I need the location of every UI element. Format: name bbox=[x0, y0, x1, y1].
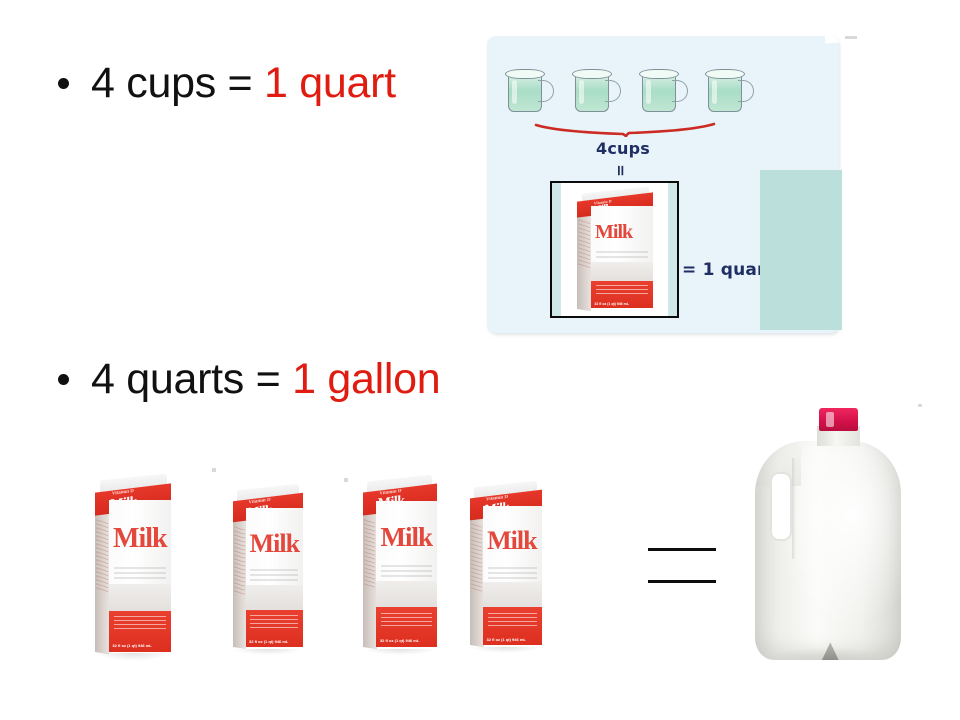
carton-bottom-red-band: 32 fl oz (1 qt) 946 mL bbox=[483, 607, 542, 645]
cup-gloss bbox=[579, 80, 584, 104]
carton-nutrition-lines bbox=[114, 616, 166, 632]
carton-bottom-red-band: 32 fl oz (1 qt) 946 mL bbox=[591, 281, 653, 309]
slide-canvas: 4 cups = 1 quart 4 quarts = 1 gallon bbox=[0, 0, 960, 720]
carton-front-face: Milk 32 fl oz (1 qt) 946 mL bbox=[246, 508, 303, 647]
carton-lower-white bbox=[376, 581, 437, 607]
carton-ground-shadow bbox=[233, 649, 303, 656]
carton-ground-shadow bbox=[470, 647, 542, 654]
milk-carton-1: Vitamin D Milk Milk 32 fl oz (1 qt) 946 … bbox=[95, 477, 171, 657]
stray-mark-carton-1 bbox=[212, 468, 216, 472]
quart-milk-carton: Vitamin D Milk Milk 32 fl oz (1 qt) 946 … bbox=[577, 190, 653, 312]
milk-carton-3: Vitamin D Milk Milk 32 fl oz (1 qt) 946 … bbox=[363, 478, 437, 652]
frame-strip-right bbox=[668, 183, 677, 316]
carton-ground-shadow bbox=[363, 649, 437, 656]
carton-front-face: Milk 32 fl oz (1 qt) 946 mL bbox=[109, 500, 171, 651]
carton-bottom-red-band: 32 fl oz (1 qt) 946 mL bbox=[246, 610, 303, 647]
carton-volume-text: 32 fl oz (1 qt) 946 mL bbox=[594, 302, 628, 306]
carton-nutrition-lines bbox=[250, 615, 298, 629]
carton-brand-text: Milk bbox=[250, 531, 299, 557]
measuring-cup-4 bbox=[705, 68, 747, 114]
carton-brand-text: Milk bbox=[487, 528, 536, 554]
panel-corner-notch bbox=[825, 36, 839, 44]
bullet-1-lead: 4 cups = bbox=[91, 59, 264, 107]
carton-side-panel bbox=[95, 499, 109, 654]
carton-volume-text: 32 fl oz (1 qt) 946 mL bbox=[486, 637, 525, 642]
cup-handle bbox=[738, 80, 754, 102]
carton-side-text bbox=[471, 523, 482, 591]
carton-lower-white bbox=[483, 582, 542, 607]
cup-rim bbox=[505, 69, 545, 79]
bullet-text-quarts-to-gallon: 4 quarts = 1 gallon bbox=[91, 358, 440, 401]
carton-front-face: Milk 32 fl oz (1 qt) 946 mL bbox=[376, 501, 437, 647]
bullet-1-accent: 1 quart bbox=[264, 59, 396, 107]
bullet-line-cups-to-quart: 4 cups = 1 quart bbox=[58, 62, 396, 105]
measuring-cup-2 bbox=[572, 68, 614, 114]
cup-rim bbox=[572, 69, 612, 79]
carton-side-panel bbox=[470, 504, 484, 647]
stray-mark-top-right bbox=[845, 36, 857, 39]
label-four-cups: 4cups bbox=[596, 139, 650, 158]
jug-cap-gloss bbox=[826, 412, 834, 427]
carton-lower-white bbox=[591, 262, 653, 280]
jug-handle-hole bbox=[772, 474, 790, 540]
equals-bar-top bbox=[648, 548, 716, 551]
carton-nutrition-lines bbox=[381, 613, 432, 628]
carton-volume-text: 32 fl oz (1 qt) 946 mL bbox=[112, 643, 151, 648]
bullet-dot-icon bbox=[58, 78, 69, 89]
jug-handle-rib bbox=[792, 458, 797, 559]
cup-rim bbox=[705, 69, 745, 79]
carton-side-panel bbox=[577, 205, 591, 311]
stray-mark-right bbox=[918, 404, 922, 407]
teal-overlay-block bbox=[760, 170, 842, 330]
carton-side-text bbox=[234, 526, 245, 594]
cup-gloss bbox=[512, 80, 517, 104]
jug-cap bbox=[819, 408, 859, 431]
carton-subtext-lines bbox=[114, 567, 166, 581]
carton-subtext-lines bbox=[381, 565, 432, 578]
carton-front-face: Milk 32 fl oz (1 qt) 946 mL bbox=[591, 206, 653, 308]
cup-rim bbox=[639, 69, 679, 79]
carton-lower-white bbox=[109, 584, 171, 611]
carton-nutrition-lines bbox=[488, 613, 538, 627]
carton-front-face: Milk 32 fl oz (1 qt) 946 mL bbox=[483, 506, 542, 645]
carton-side-text bbox=[364, 519, 375, 591]
cup-handle bbox=[672, 80, 688, 102]
carton-lower-white bbox=[246, 585, 303, 610]
measuring-cup-3 bbox=[639, 68, 681, 114]
carton-bottom-red-band: 32 fl oz (1 qt) 946 mL bbox=[376, 607, 437, 646]
stray-mark-carton-3 bbox=[344, 478, 348, 482]
carton-nutrition-lines bbox=[596, 285, 648, 296]
carton-side-panel bbox=[363, 499, 377, 649]
carton-brand-text: Milk bbox=[381, 524, 433, 551]
carton-subtext-lines bbox=[488, 567, 538, 580]
cup-handle bbox=[538, 80, 554, 102]
panel-equals-mark: = bbox=[612, 164, 630, 176]
cup-handle bbox=[605, 80, 621, 102]
bullet-text-cups-to-quart: 4 cups = 1 quart bbox=[91, 62, 396, 105]
carton-side-panel bbox=[233, 507, 246, 649]
frame-strip-left bbox=[552, 183, 561, 316]
carton-side-text bbox=[578, 218, 590, 269]
carton-bottom-red-band: 32 fl oz (1 qt) 946 mL bbox=[109, 611, 171, 652]
carton-ground-shadow bbox=[95, 653, 171, 660]
carton-brand-text: Milk bbox=[113, 525, 167, 553]
cup-gloss bbox=[712, 80, 717, 104]
bullet-2-accent: 1 gallon bbox=[292, 355, 440, 403]
milk-carton-4: Vitamin D Milk Milk 32 fl oz (1 qt) 946 … bbox=[470, 484, 542, 650]
carton-subtext-lines bbox=[596, 251, 648, 260]
equals-sign-bottom bbox=[648, 546, 716, 586]
carton-side-text bbox=[96, 519, 108, 593]
carton-brand-text: Milk bbox=[595, 222, 632, 242]
gallon-milk-jug bbox=[752, 408, 904, 660]
carton-volume-text: 32 fl oz (1 qt) 946 mL bbox=[249, 639, 288, 644]
equals-bar-bottom bbox=[648, 580, 716, 583]
carton-subtext-lines bbox=[250, 569, 298, 581]
bullet-dot-icon bbox=[58, 374, 69, 385]
measuring-cup-1 bbox=[505, 68, 547, 114]
cup-gloss bbox=[646, 80, 651, 104]
cups-group-brace bbox=[534, 122, 716, 138]
bullet-line-quarts-to-gallon: 4 quarts = 1 gallon bbox=[58, 358, 440, 401]
bullet-2-lead: 4 quarts = bbox=[91, 355, 292, 403]
carton-volume-text: 32 fl oz (1 qt) 946 mL bbox=[380, 638, 419, 643]
milk-carton-2: Vitamin D Milk Milk 32 fl oz (1 qt) 946 … bbox=[233, 487, 303, 652]
